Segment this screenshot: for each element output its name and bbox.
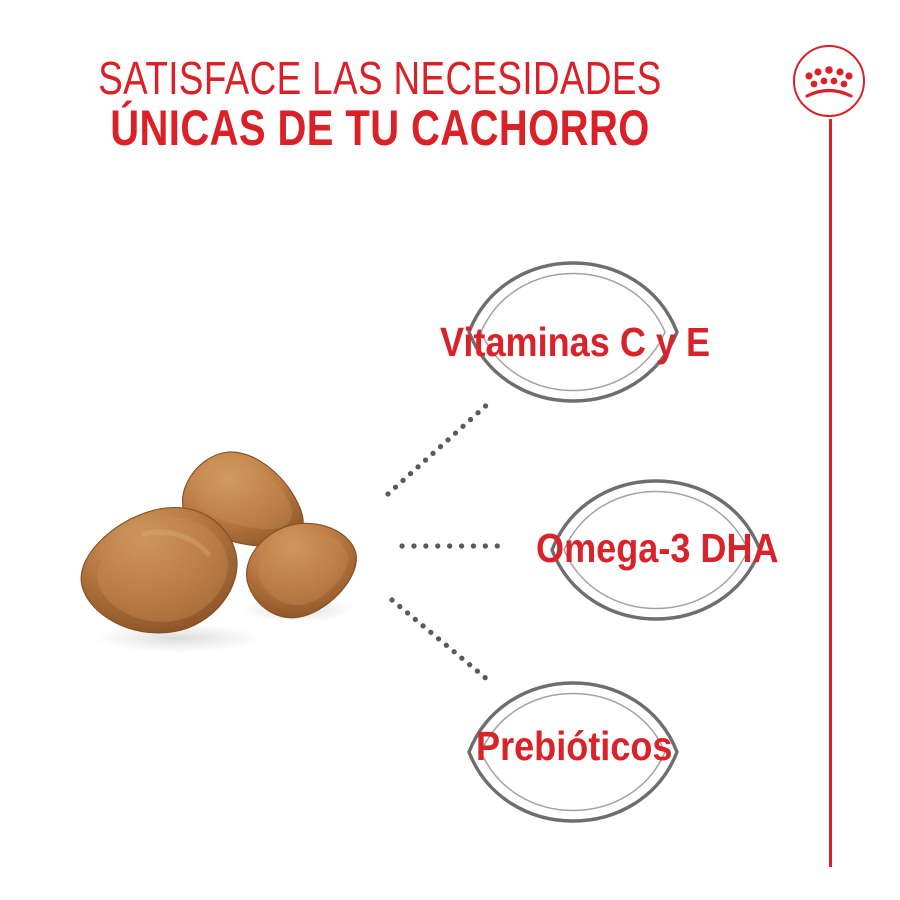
connector-dots-vitaminas: [384, 398, 494, 498]
page-title: SATISFACE LAS NECESIDADES ÚNICAS DE TU C…: [0, 55, 760, 153]
kibble-product-image: [60, 430, 380, 670]
promo-canvas: SATISFACE LAS NECESIDADES ÚNICAS DE TU C…: [0, 0, 900, 900]
benefit-label-omega3: Omega-3 DHA: [536, 528, 779, 569]
title-line-secondary: ÚNICAS DE TU CACHORRO: [76, 103, 684, 153]
benefit-label-vitaminas: Vitaminas C y E: [440, 322, 710, 363]
kibble-piece-front: [81, 508, 237, 633]
title-line-primary: SATISFACE LAS NECESIDADES: [76, 55, 684, 101]
connector-dots-prebioticos: [388, 596, 492, 684]
connector-dots-omega3: [398, 536, 502, 556]
logo-vertical-rule: [829, 119, 832, 867]
crown-icon: [802, 63, 856, 103]
brand-logo: [793, 45, 871, 870]
benefit-label-prebioticos: Prebióticos: [476, 726, 672, 767]
